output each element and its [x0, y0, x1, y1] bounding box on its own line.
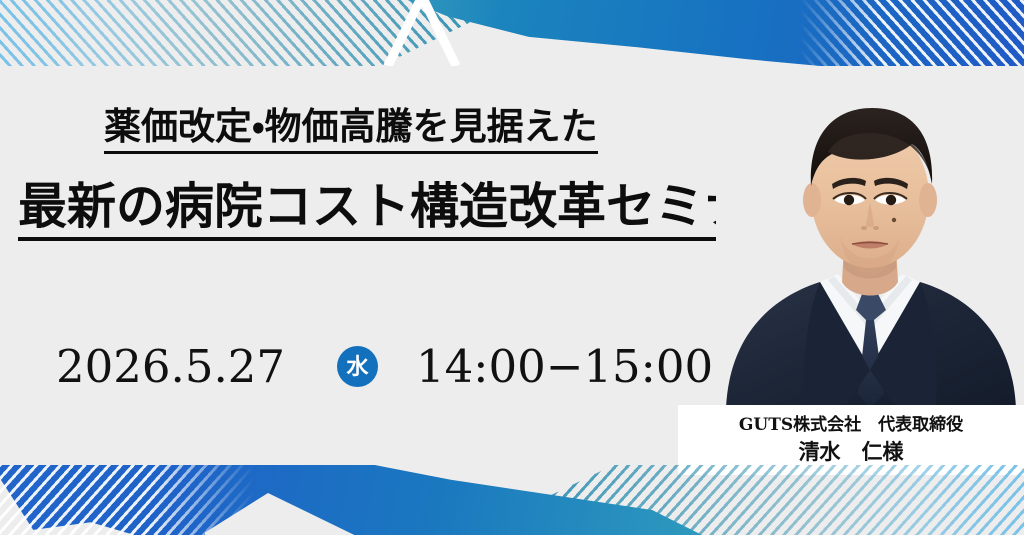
headline-block: 薬価改定・物価高騰を見据えた 最新の病院コスト構造改革セミナー	[0, 108, 700, 241]
x-mark-icon	[382, 0, 462, 66]
speaker-name: 清水 仁様	[799, 439, 904, 465]
bottom-band-layer	[0, 465, 1024, 535]
schedule-row: 2026.5.27 水 14:00−15:00	[56, 344, 713, 389]
weekday-badge: 水	[337, 346, 378, 387]
headline-line-2: 最新の病院コスト構造改革セミナー	[18, 182, 802, 241]
x-mark-stroke-a	[384, 0, 426, 66]
bottom-decor-band	[0, 465, 1024, 535]
weekday-badge-label: 水	[347, 356, 369, 378]
top-band-layer	[0, 0, 1024, 66]
headline-line-1: 薬価改定・物価高騰を見据えた	[104, 108, 598, 154]
speaker-portrait-illustration	[716, 68, 1024, 408]
speaker-role: GUTS株式会社 代表取締役	[739, 415, 963, 435]
speaker-photo	[716, 68, 1024, 408]
bottom-right-stripes-light	[728, 465, 1024, 535]
top-left-stripes-light	[0, 0, 296, 66]
top-right-white-stripes	[800, 0, 1024, 66]
seminar-banner: 薬価改定・物価高騰を見据えた 最新の病院コスト構造改革セミナー 2026.5.2…	[0, 0, 1024, 535]
x-mark-stroke-b	[418, 0, 460, 66]
top-decor-band	[0, 0, 1024, 66]
seminar-date: 2026.5.27	[56, 344, 285, 389]
seminar-time: 14:00−15:00	[416, 344, 713, 389]
bottom-left-white-stripes	[0, 465, 254, 535]
